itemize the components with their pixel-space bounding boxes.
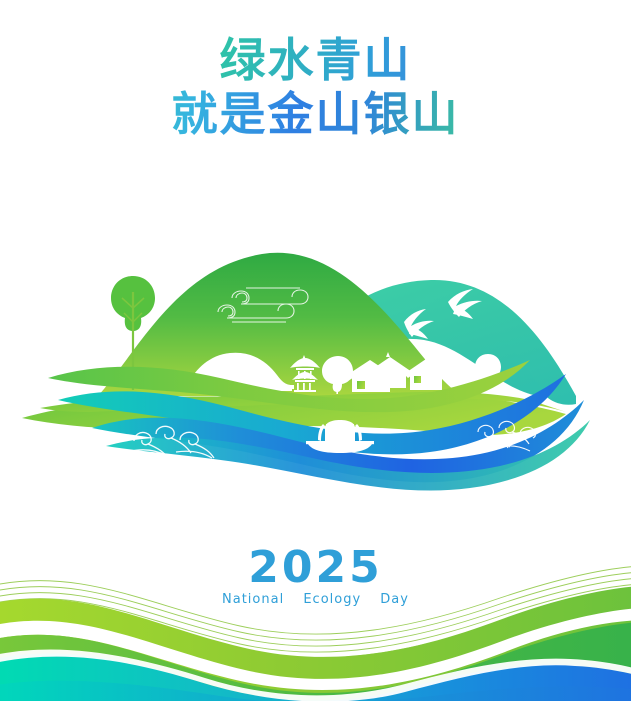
footer-wave-decoration	[0, 0, 631, 701]
poster-canvas: 绿水青山 就是金山银山 2025 National Ecology Day	[0, 0, 631, 701]
